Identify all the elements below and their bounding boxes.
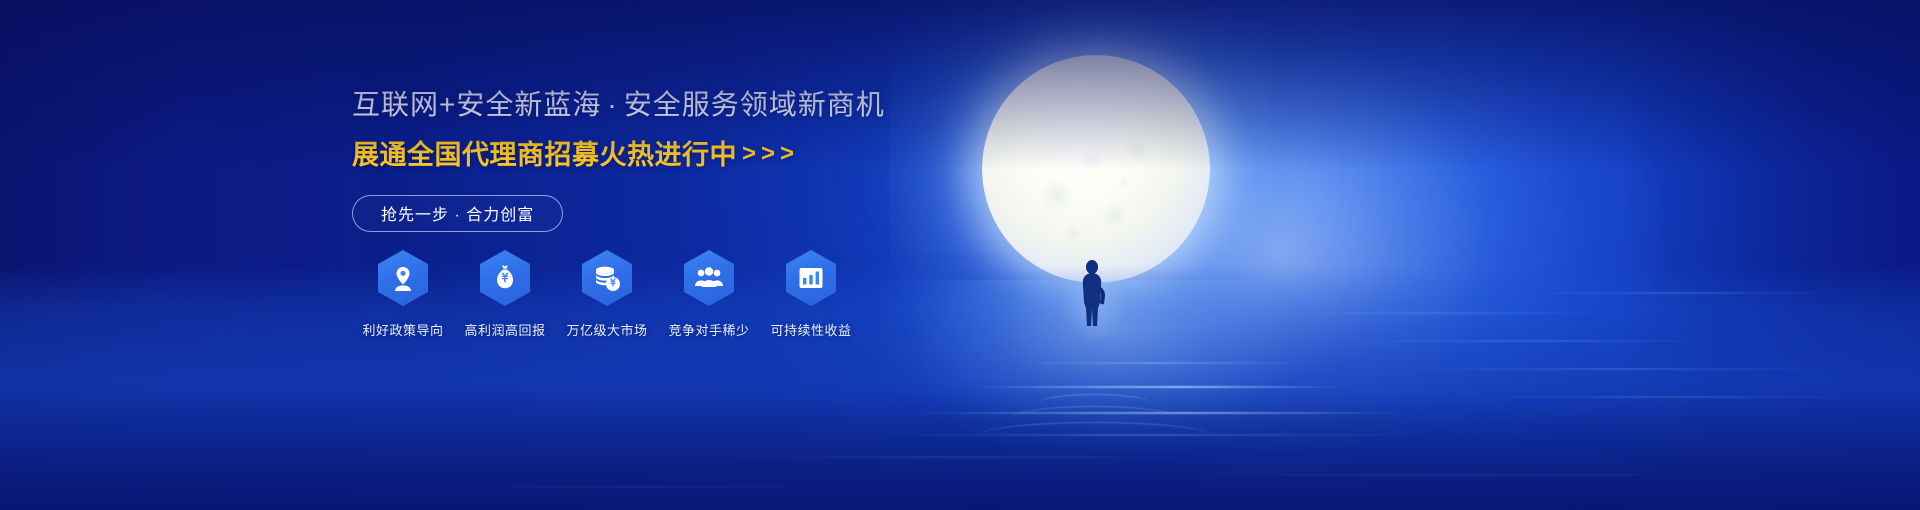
feature-label: 高利润高回报 — [464, 320, 545, 339]
feature-label: 利好政策导向 — [362, 320, 443, 339]
wave-line — [1500, 292, 1860, 294]
people-group-icon — [694, 265, 724, 291]
feature-label: 万亿级大市场 — [566, 320, 647, 339]
wave-line — [1000, 362, 1330, 364]
feature-item[interactable]: 竞争对手稀少 — [658, 250, 760, 339]
cta-pill-label: 抢先一步 · 合力创富 — [381, 201, 534, 225]
hexagon-badge — [786, 250, 836, 306]
wave-line — [960, 386, 1360, 388]
promo-banner: 互联网+安全新蓝海·安全服务领域新商机 展通全国代理商招募火热进行中 >>> 抢… — [0, 0, 1920, 510]
money-bag-yuan-icon — [491, 264, 519, 292]
walking-person-icon — [1075, 258, 1109, 330]
top-vignette — [0, 0, 1920, 170]
feature-item[interactable]: 高利润高回报 — [454, 250, 556, 339]
hexagon-badge — [378, 250, 428, 306]
wave-line — [1250, 312, 1630, 314]
bar-chart-growth-icon — [797, 264, 825, 292]
feature-item[interactable]: 万亿级大市场 — [556, 250, 658, 339]
location-pin-person-icon — [389, 264, 417, 292]
feature-list: 利好政策导向 高利润高回报 — [352, 250, 862, 339]
coin-stack-yuan-icon — [592, 264, 622, 292]
wave-line — [1380, 368, 1860, 370]
feature-label: 竞争对手稀少 — [668, 320, 749, 339]
hexagon-badge — [582, 250, 632, 306]
hexagon-badge — [684, 250, 734, 306]
bottom-vignette — [0, 390, 1920, 510]
feature-label: 可持续性收益 — [770, 320, 851, 339]
wave-line — [1320, 340, 1740, 342]
hexagon-badge — [480, 250, 530, 306]
feature-item[interactable]: 利好政策导向 — [352, 250, 454, 339]
feature-item[interactable]: 可持续性收益 — [760, 250, 862, 339]
cta-pill-button[interactable]: 抢先一步 · 合力创富 — [352, 195, 563, 232]
